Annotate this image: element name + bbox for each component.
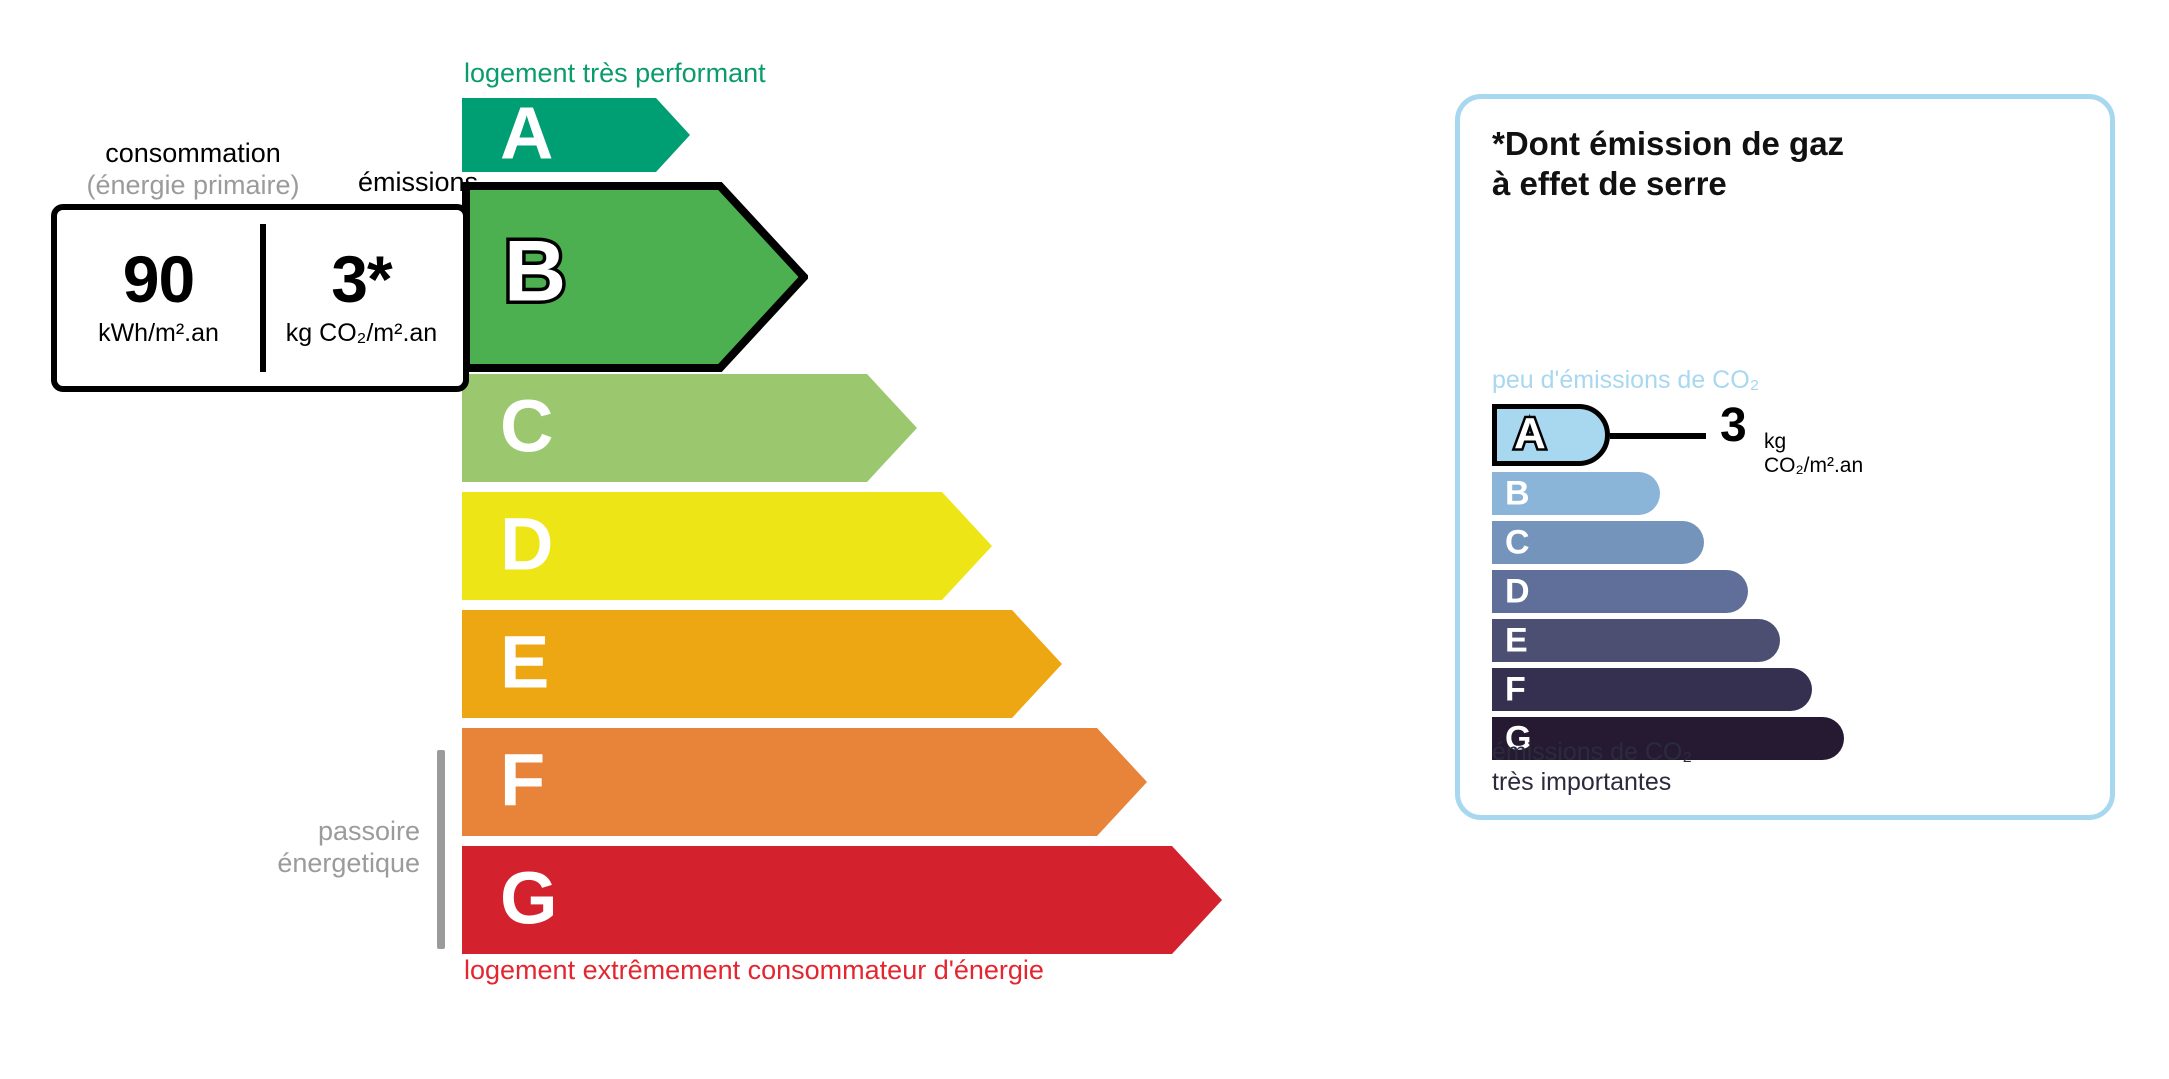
- co2-bar-row-a: A3kg CO₂/m².an: [1492, 404, 1844, 466]
- consumption-header-title: consommation: [105, 138, 281, 168]
- co2-value: 3: [1720, 402, 1747, 450]
- co2-bar-list: A3kg CO₂/m².anBCDEFG: [1492, 404, 1844, 766]
- consumption-header-subtitle: (énergie primaire): [68, 170, 318, 202]
- energy-band-arrow-b: [462, 182, 808, 372]
- energy-band-g: G: [462, 846, 1222, 954]
- consumption-value: 90: [123, 248, 194, 311]
- energy-band-arrow-f: [462, 728, 1155, 844]
- co2-bar-e: E: [1492, 619, 1780, 662]
- co2-bar-letter-b: B: [1505, 476, 1530, 510]
- co2-title-line1: *Dont émission de gaz: [1492, 125, 1844, 162]
- co2-bar-row-d: D: [1492, 570, 1844, 613]
- co2-bar-row-e: E: [1492, 619, 1844, 662]
- consumption-value-cell: 90 kWh/m².an: [57, 210, 260, 386]
- energy-band-b: B: [462, 182, 800, 364]
- co2-bottom-label-line1: émissions de CO₂: [1492, 738, 1692, 766]
- co2-bar-letter-d: D: [1505, 574, 1530, 608]
- energy-band-arrow-d: [462, 492, 1000, 608]
- energy-band-c: C: [462, 374, 917, 482]
- co2-bar-letter-a: A: [1514, 412, 1546, 456]
- passoire-label-line2: énergetique: [277, 848, 420, 878]
- passoire-label: passoire énergetique: [250, 815, 420, 880]
- energy-band-arrow-g: [462, 846, 1230, 962]
- emissions-value: 3*: [331, 248, 391, 311]
- energy-band-arrow-a: [462, 98, 698, 180]
- co2-bar-f: F: [1492, 668, 1812, 711]
- co2-panel-title: *Dont émission de gaz à effet de serre: [1492, 124, 1844, 205]
- co2-bar-a: A: [1492, 404, 1610, 466]
- value-box: 90 kWh/m².an 3* kg CO₂/m².an: [51, 204, 469, 392]
- co2-panel: *Dont émission de gaz à effet de serre p…: [1455, 94, 2115, 820]
- co2-value-unit: kg CO₂/m².an: [1764, 430, 1863, 478]
- dpe-label: consommation (énergie primaire) émission…: [0, 0, 2169, 1079]
- co2-bar-letter-c: C: [1505, 525, 1530, 559]
- co2-title-line2: à effet de serre: [1492, 165, 1727, 202]
- caption-very-efficient: logement très performant: [464, 58, 766, 89]
- co2-leader-line: [1610, 433, 1706, 439]
- energy-band-f: F: [462, 728, 1147, 836]
- co2-low-emissions-label: peu d'émissions de CO₂: [1492, 366, 1759, 395]
- co2-bar-row-f: F: [1492, 668, 1844, 711]
- co2-bar-letter-f: F: [1505, 672, 1526, 706]
- energy-class-chart: consommation (énergie primaire) émission…: [0, 0, 1400, 1079]
- passoire-marker-bar: [437, 750, 445, 949]
- emissions-unit: kg CO₂/m².an: [286, 319, 437, 348]
- co2-bar-c: C: [1492, 521, 1704, 564]
- co2-bottom-label-line2: très importantes: [1492, 768, 1671, 796]
- co2-bar-letter-e: E: [1505, 623, 1528, 657]
- co2-bar-row-b: B: [1492, 472, 1844, 515]
- passoire-label-line1: passoire: [318, 816, 420, 846]
- energy-band-a: A: [462, 98, 690, 172]
- co2-bar-b: B: [1492, 472, 1660, 515]
- co2-bar-d: D: [1492, 570, 1748, 613]
- co2-high-emissions-label: émissions de CO₂ très importantes: [1492, 737, 1692, 797]
- energy-band-d: D: [462, 492, 992, 600]
- energy-band-arrow-c: [462, 374, 925, 490]
- emissions-value-cell: 3* kg CO₂/m².an: [260, 210, 463, 386]
- consumption-unit: kWh/m².an: [98, 319, 219, 348]
- energy-band-arrow-e: [462, 610, 1070, 726]
- consumption-header: consommation (énergie primaire): [68, 138, 318, 202]
- energy-band-e: E: [462, 610, 1062, 718]
- co2-bar-row-c: C: [1492, 521, 1844, 564]
